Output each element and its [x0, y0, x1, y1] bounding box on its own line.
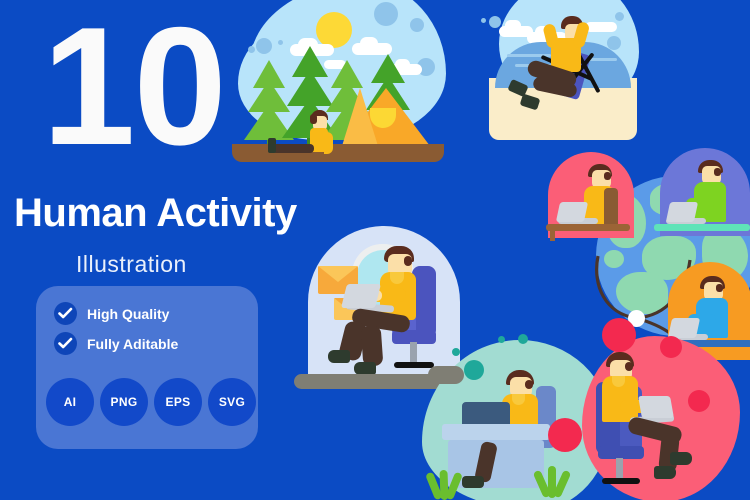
sun-icon: [316, 12, 352, 48]
feature-label: High Quality: [87, 306, 169, 322]
poster-canvas: 10 Human Activity Illustration High Qual…: [0, 0, 750, 500]
format-badge-eps[interactable]: EPS: [154, 378, 202, 426]
format-badge-svg[interactable]: SVG: [208, 378, 256, 426]
illustration-global-remote-work-scene: [536, 150, 750, 360]
decorative-dot: [688, 390, 710, 412]
decorative-bubble: [248, 46, 255, 53]
format-badges: AI PNG EPS SVG: [46, 378, 256, 426]
page-subtitle: Illustration: [76, 250, 187, 278]
feature-item-fully-aditable: Fully Aditable: [54, 332, 178, 355]
decorative-dot: [660, 336, 682, 358]
feature-item-high-quality: High Quality: [54, 302, 169, 325]
decorative-dot: [602, 318, 636, 352]
page-title: Human Activity: [14, 190, 297, 236]
decorative-bubble: [410, 18, 424, 32]
format-badge-ai[interactable]: AI: [46, 378, 94, 426]
check-icon: [54, 332, 77, 355]
poster-count: 10: [42, 2, 225, 170]
decorative-dot: [464, 360, 484, 380]
illustration-beach-relax-scene: [489, 0, 649, 150]
decorative-bubble: [256, 38, 272, 54]
format-badge-png[interactable]: PNG: [100, 378, 148, 426]
camp-ground: [232, 144, 444, 162]
feature-card: High Quality Fully Aditable AI PNG EPS S…: [36, 286, 258, 449]
cloud-shape: [360, 37, 378, 50]
check-icon: [54, 302, 77, 325]
decorative-dot: [498, 336, 505, 343]
decorative-bubble: [615, 12, 624, 21]
decorative-dot: [452, 348, 460, 356]
feature-label: Fully Aditable: [87, 336, 178, 352]
illustration-camping-scene: [232, 0, 468, 165]
decorative-dot: [518, 334, 528, 344]
decorative-bubble: [489, 16, 501, 28]
illustration-laptop-chair-scene: [576, 330, 750, 500]
decorative-dot: [548, 418, 582, 452]
speech-bubble: [428, 366, 464, 384]
cloud-shape: [505, 20, 521, 31]
cloud-shape: [585, 22, 617, 32]
decorative-bubble: [374, 2, 398, 26]
decorative-bubble: [481, 18, 486, 23]
